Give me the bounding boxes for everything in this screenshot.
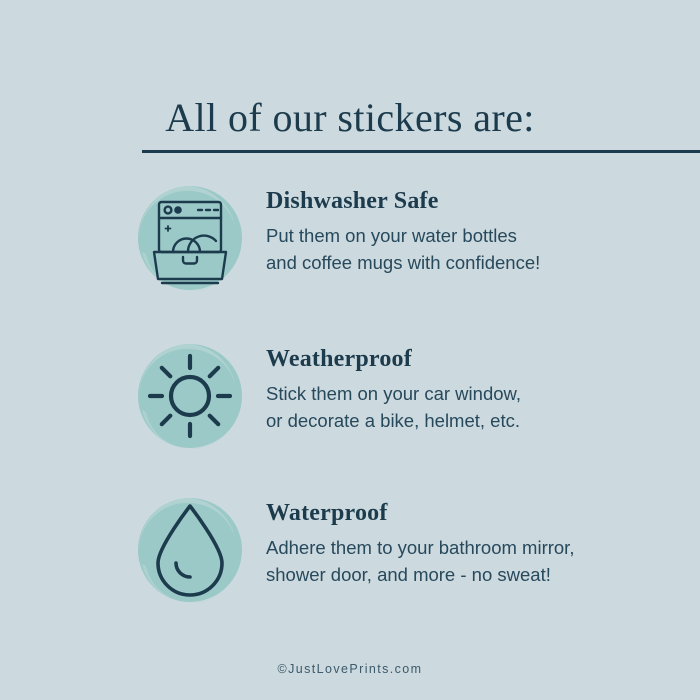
feature-description: Stick them on your car window, or decora… <box>266 381 521 434</box>
feature-row-weatherproof: Weatherproof Stick them on your car wind… <box>132 338 692 454</box>
feature-row-dishwasher: Dishwasher Safe Put them on your water b… <box>132 180 692 296</box>
feature-row-waterproof: Waterproof Adhere them to your bathroom … <box>132 492 692 608</box>
feature-heading: Waterproof <box>266 500 574 526</box>
feature-description-line: or decorate a bike, helmet, etc. <box>266 408 521 434</box>
water-droplet-icon <box>132 492 248 608</box>
feature-text-waterproof: Waterproof Adhere them to your bathroom … <box>248 492 574 588</box>
sun-icon <box>132 338 248 454</box>
title-divider <box>142 150 700 153</box>
feature-description-line: Adhere them to your bathroom mirror, <box>266 535 574 561</box>
feature-description-line: Stick them on your car window, <box>266 381 521 407</box>
dishwasher-icon <box>132 180 248 296</box>
feature-heading: Dishwasher Safe <box>266 188 540 214</box>
feature-description-line: Put them on your water bottles <box>266 223 540 249</box>
feature-heading: Weatherproof <box>266 346 521 372</box>
feature-description-line: and coffee mugs with confidence! <box>266 250 540 276</box>
feature-description: Put them on your water bottles and coffe… <box>266 223 540 276</box>
feature-text-dishwasher: Dishwasher Safe Put them on your water b… <box>248 180 540 276</box>
feature-description-line: shower door, and more - no sweat! <box>266 562 574 588</box>
footer-credit: ©JustLovePrints.com <box>0 662 700 676</box>
poster-canvas: All of our stickers are: <box>0 0 700 700</box>
feature-text-weatherproof: Weatherproof Stick them on your car wind… <box>248 338 521 434</box>
feature-description: Adhere them to your bathroom mirror, sho… <box>266 535 574 588</box>
page-title: All of our stickers are: <box>0 95 700 141</box>
